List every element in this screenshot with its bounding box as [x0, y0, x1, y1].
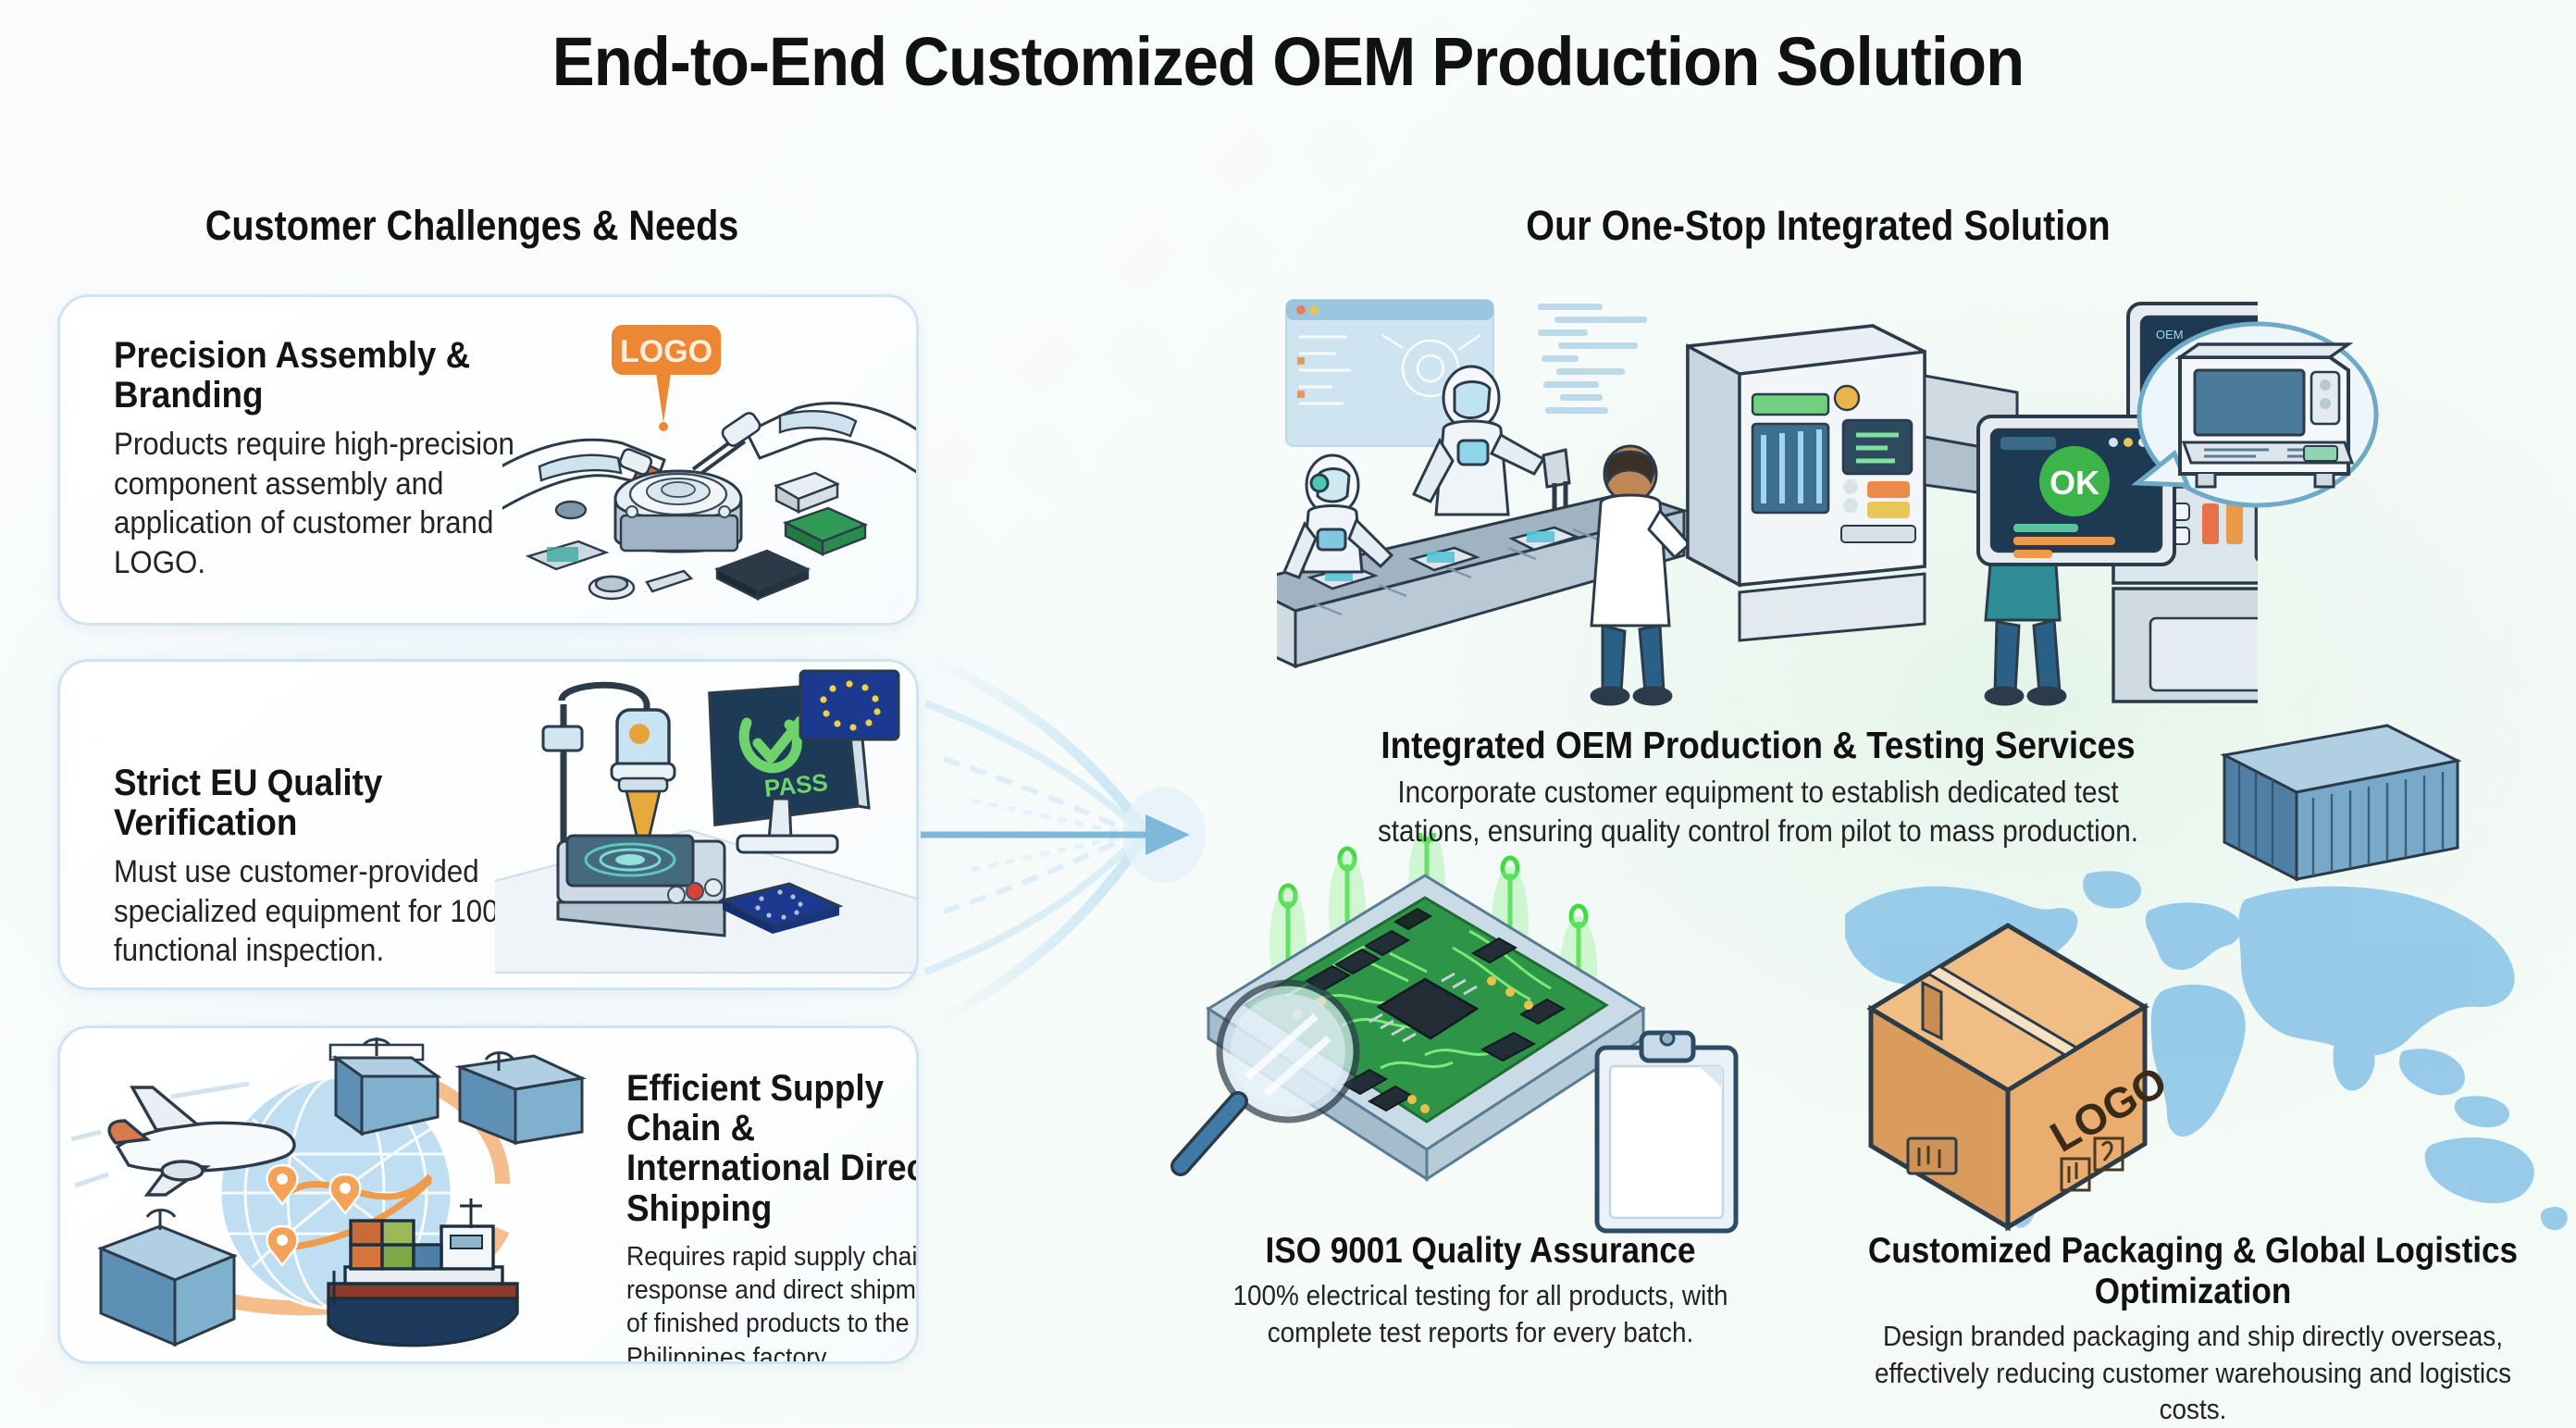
- left-column-heading: Customer Challenges & Needs: [56, 202, 887, 250]
- solution-block-2: ISO 9001 Quality Assurance 100% electric…: [1194, 1231, 1767, 1350]
- global-logistics-illustration: [68, 1036, 623, 1354]
- solution-2-body: 100% electrical testing for all products…: [1222, 1277, 1739, 1350]
- solution-block-1: Integrated OEM Production & Testing Serv…: [1314, 724, 2202, 851]
- challenge-card-1-body: Products require high-precision componen…: [114, 425, 539, 582]
- right-column-heading: Our One-Stop Integrated Solution: [1407, 202, 2230, 250]
- solution-1-body: Incorporate customer equipment to establ…: [1358, 773, 2158, 851]
- solution-1-title: Integrated OEM Production & Testing Serv…: [1358, 724, 2158, 767]
- challenge-card-1-title: Precision Assembly & Branding: [114, 336, 539, 416]
- challenge-card-1: Precision Assembly & Branding Products r…: [57, 294, 919, 626]
- solution-2-title: ISO 9001 Quality Assurance: [1222, 1231, 1739, 1272]
- logo-bubble-label: LOGO: [620, 334, 712, 369]
- infographic-canvas: End-to-End Customized OEM Production Sol…: [0, 0, 2576, 1422]
- eu-inspection-illustration: PASS: [495, 667, 917, 986]
- assembly-illustration: LOGO: [502, 304, 919, 619]
- challenge-card-3-title: Efficient Supply Chain & International D…: [626, 1069, 919, 1229]
- solution-3-body: Design branded packaging and ship direct…: [1851, 1318, 2534, 1428]
- solution-block-3: Customized Packaging & Global Logistics …: [1814, 1231, 2572, 1428]
- page-title: End-to-End Customized OEM Production Sol…: [90, 22, 2485, 101]
- test-machine-callout: [2119, 315, 2387, 546]
- challenge-card-3-body: Requires rapid supply chain response and…: [626, 1240, 919, 1364]
- ok-badge-label: OK: [2050, 464, 2099, 502]
- global-shipping-map: LOGO: [1823, 861, 2572, 1249]
- solution-3-title: Customized Packaging & Global Logistics …: [1851, 1231, 2534, 1312]
- challenge-card-3-text: Efficient Supply Chain & International D…: [626, 1069, 919, 1364]
- challenge-card-2: Strict EU Quality Verification Must use …: [57, 659, 919, 990]
- pcb-inspection-illustration: [1147, 833, 1777, 1240]
- challenge-card-3: Efficient Supply Chain & International D…: [57, 1025, 919, 1364]
